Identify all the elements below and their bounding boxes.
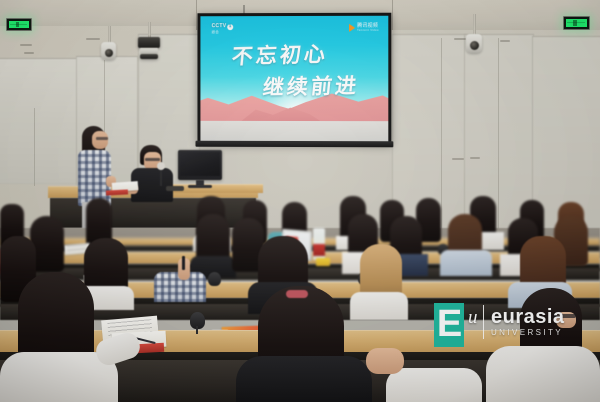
- wall-vent: [20, 44, 32, 46]
- projected-slide: CCTV 1 综合 腾讯视频 Tencent Video 不忘初心 继续前进: [200, 16, 388, 142]
- presenter-glasses: [145, 158, 160, 161]
- exit-sign-right: [563, 16, 590, 30]
- slide-ground-band: [200, 121, 388, 141]
- desk-yellow-item: [316, 258, 330, 266]
- desk-microphone: [208, 272, 221, 286]
- projection-screen: CCTV 1 综合 腾讯视频 Tencent Video 不忘初心 继续前进: [197, 13, 391, 145]
- hair-tie: [286, 290, 308, 298]
- ceiling-seam: [392, 0, 393, 30]
- podium-keyboard: [166, 186, 184, 191]
- cctv-logo: CCTV 1 综合: [212, 24, 234, 34]
- camera-lens-icon: [105, 49, 113, 57]
- wall-vent: [470, 157, 480, 159]
- student-top: [236, 356, 372, 402]
- slide-calligraphy: 不忘初心 继续前进: [200, 38, 388, 100]
- slide-headline-line2: 继续前进: [200, 68, 388, 102]
- exit-sign-glyph: [566, 19, 588, 26]
- wall-vent: [452, 158, 464, 160]
- exit-sign-left: [6, 18, 32, 31]
- camera-lens-icon: [470, 41, 479, 50]
- tencent-video-logo: 腾讯视频 Tencent Video: [349, 23, 379, 31]
- wall-vent: [86, 38, 100, 40]
- wall-panel-seam: [441, 38, 442, 236]
- podium-mic-head: [157, 162, 165, 170]
- projector-mount-rod: [148, 22, 151, 38]
- tencent-name-en: Tencent Video: [357, 28, 379, 31]
- camera-mount-rod: [473, 14, 476, 36]
- student-glasses: [554, 314, 576, 318]
- play-triangle-icon: [349, 23, 355, 31]
- student-top: [440, 250, 492, 276]
- student-top: [486, 346, 600, 402]
- screen-bottom-bar: [195, 141, 393, 148]
- cctv-badge: CCTV 1: [212, 24, 234, 30]
- bottle-label: [313, 244, 325, 256]
- cctv-channel-number: 1: [227, 24, 233, 30]
- slide-headline-line1: 不忘初心: [200, 36, 388, 71]
- water-bottle: [313, 228, 325, 260]
- wall-panel: [0, 58, 78, 184]
- wall-vent: [454, 38, 466, 40]
- student-top: [350, 292, 408, 320]
- podium-mic-stem: [160, 168, 162, 186]
- instructor-glasses: [96, 137, 108, 140]
- wall-vent: [24, 52, 34, 54]
- wall-panel-seam: [34, 108, 35, 186]
- ceiling-projector-icon: [138, 37, 160, 48]
- cctv-subtitle: 综合: [212, 31, 220, 34]
- instructor-face: [92, 131, 108, 149]
- wall-vent: [500, 40, 510, 42]
- tencent-wordmark: 腾讯视频 Tencent Video: [357, 23, 379, 31]
- mic-stem: [196, 326, 198, 334]
- cctv-wordmark: CCTV: [212, 24, 227, 29]
- student-arm: [366, 348, 404, 374]
- monitor-screen: [180, 152, 220, 176]
- monitor-base: [188, 185, 212, 188]
- podium-monitor: [178, 150, 222, 180]
- pen: [182, 256, 185, 270]
- student-shoulder: [386, 368, 482, 402]
- lecture-hall-photo: CCTV 1 综合 腾讯视频 Tencent Video 不忘初心 继续前进: [0, 0, 600, 402]
- exit-sign-glyph: [9, 21, 30, 28]
- projector-base: [140, 54, 158, 59]
- wall-panel-seam: [498, 38, 499, 238]
